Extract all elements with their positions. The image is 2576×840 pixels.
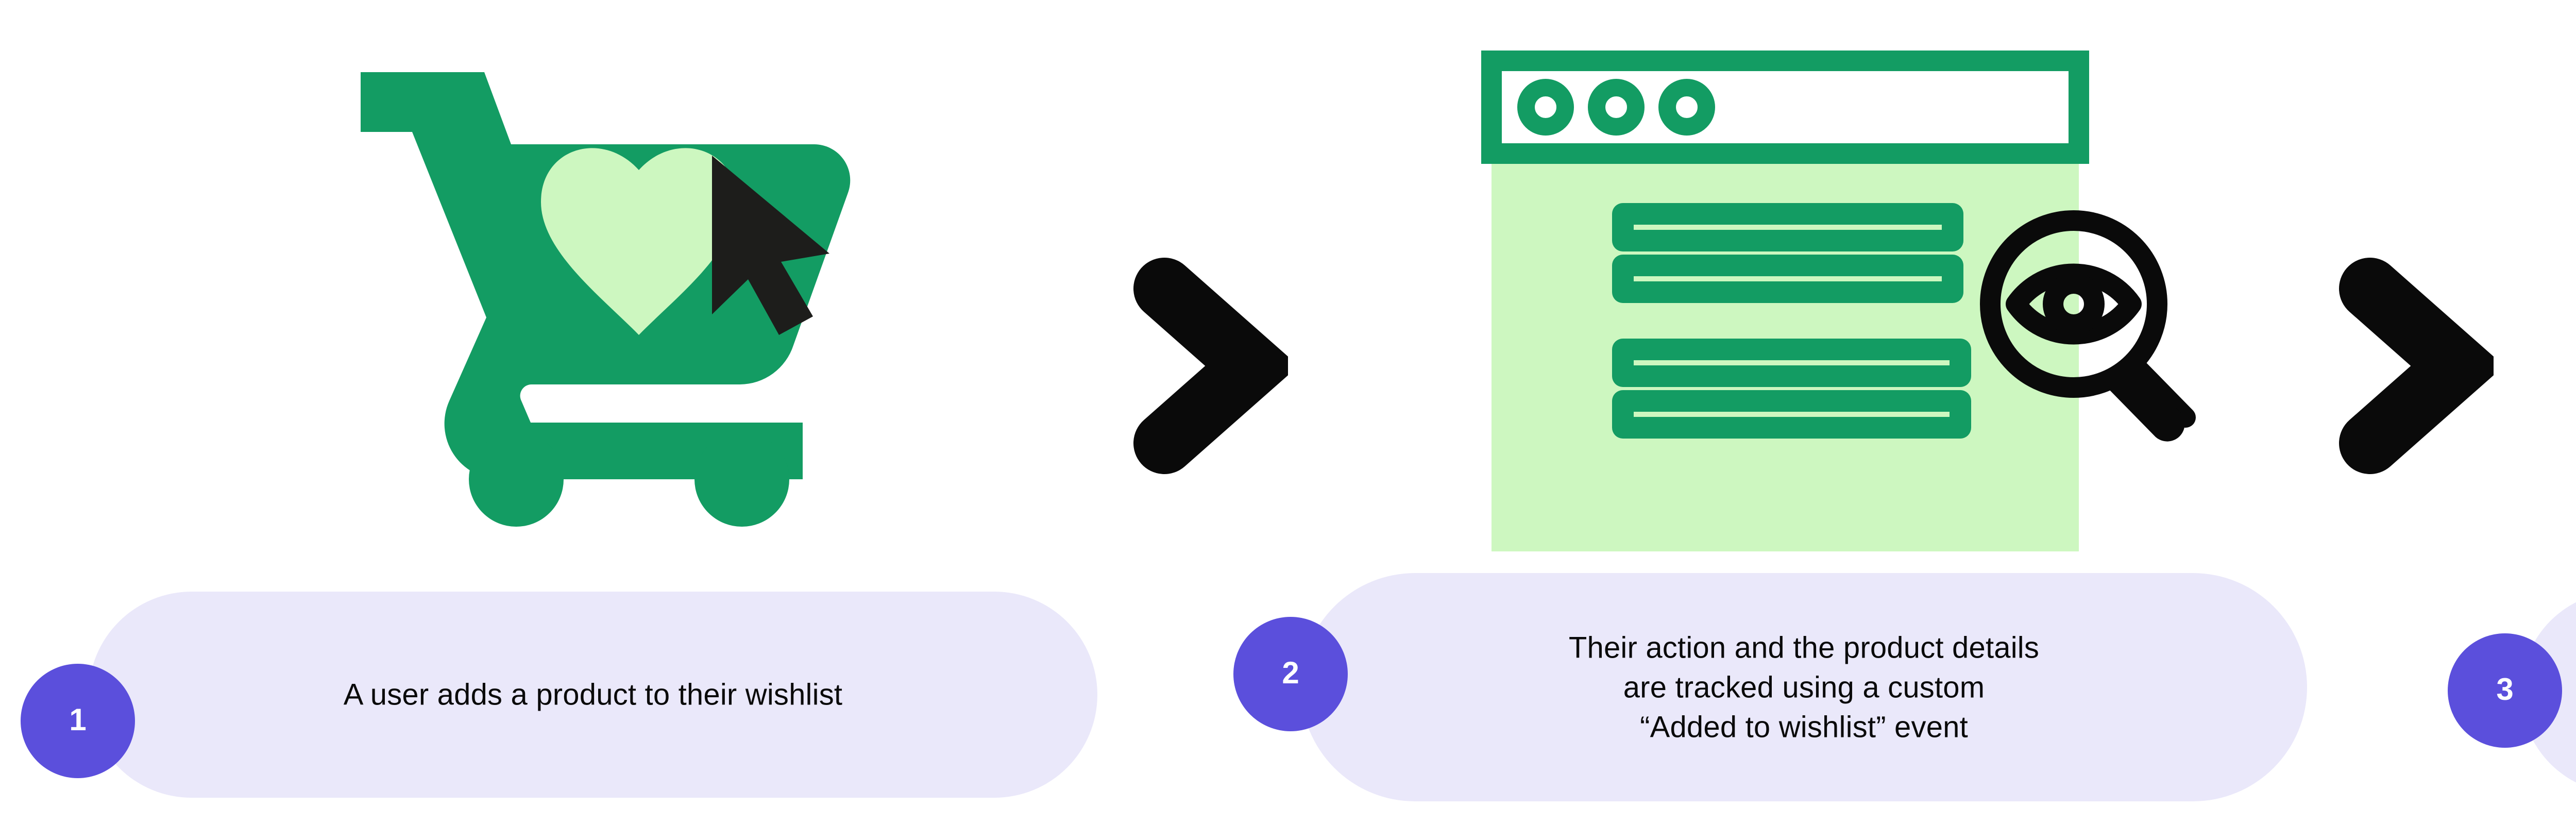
- step-2-number: 2: [1282, 658, 1299, 688]
- cart-wheel-left: [469, 432, 564, 527]
- step-1-illustration: [330, 15, 876, 541]
- chevron-right-icon-1: [1133, 258, 1288, 474]
- step-1-caption-text: A user adds a product to their wishlist: [89, 675, 1097, 714]
- step-3-number: 3: [2496, 674, 2513, 705]
- step-2-number-badge: 2: [1233, 617, 1348, 731]
- step-2-caption-text: Their action and the product details are…: [1301, 628, 2307, 747]
- step-1-number-badge: 1: [21, 664, 135, 778]
- cart-wheel-right: [694, 432, 789, 527]
- step-1-pill[interactable]: A user adds a product to their wishlist: [89, 592, 1097, 798]
- step-2-illustration: [1468, 5, 2215, 551]
- step-3-number-badge: 3: [2448, 633, 2562, 748]
- step-1-number: 1: [69, 704, 86, 735]
- step-2-pill[interactable]: Their action and the product details are…: [1301, 573, 2307, 801]
- chevron-right-icon-2: [2339, 258, 2494, 474]
- browser-title-bar: [1492, 61, 2079, 154]
- infographic-canvas: A user adds a product to their wishlist …: [0, 0, 2576, 840]
